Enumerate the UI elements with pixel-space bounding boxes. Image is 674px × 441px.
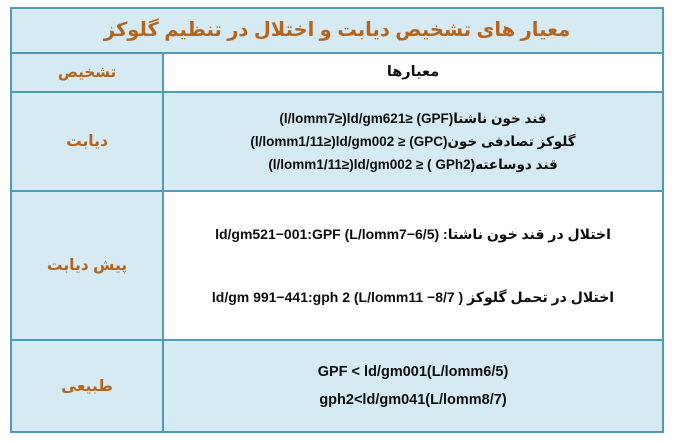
criteria-line: اختلال در قند خون ناشتا: (5/6−7mmol/L) F… (170, 223, 656, 245)
criteria-cell-normal: (5/6mmol/L)100mg/dl > FPG (7/8mmol/L)140… (163, 340, 663, 432)
table-page: معیار های تشخیص دیابت و اختلال در تنظیم … (0, 0, 674, 441)
criteria-line: قند دوساعته(2hPG ) ≤ 200mg/dl(≤11/1mmol/… (170, 153, 656, 176)
header-row: معیارها تشخیص (11, 53, 663, 92)
page-title: معیار های تشخیص دیابت و اختلال در تنظیم … (104, 19, 570, 41)
header-cell-criteria: معیارها (163, 53, 663, 92)
row-label-prediabetes: پیش دیابت (47, 257, 127, 274)
table-row: قند خون ناشتا(FPG) ≤126mg/dl(≤7mmol/l) گ… (11, 92, 663, 192)
criteria-line: (7/8mmol/L)140mg/dl>2hpg (170, 386, 656, 414)
criteria-line: اختلال در تحمل گلوکز ( 7/8− 11mmol/L) 2 … (170, 286, 656, 308)
criteria-line: قند خون ناشتا(FPG) ≤126mg/dl(≤7mmol/l) (170, 107, 656, 130)
table-row: (5/6mmol/L)100mg/dl > FPG (7/8mmol/L)140… (11, 340, 663, 432)
label-cell-prediabetes: پیش دیابت (11, 191, 163, 340)
row-spacer (170, 246, 656, 286)
criteria-cell-diabetes: قند خون ناشتا(FPG) ≤126mg/dl(≤7mmol/l) گ… (163, 92, 663, 192)
diagnosis-criteria-table: معیار های تشخیص دیابت و اختلال در تنظیم … (10, 7, 664, 433)
criteria-line: (5/6mmol/L)100mg/dl > FPG (170, 358, 656, 386)
criteria-cell-prediabetes: اختلال در قند خون ناشتا: (5/6−7mmol/L) F… (163, 191, 663, 340)
table-row: اختلال در قند خون ناشتا: (5/6−7mmol/L) F… (11, 191, 663, 340)
header-label-diagnosis: تشخیص (58, 64, 116, 81)
label-cell-diabetes: دیابت (11, 92, 163, 192)
row-label-normal: طبیعی (61, 378, 113, 395)
row-label-diabetes: دیابت (66, 133, 108, 150)
header-cell-diagnosis: تشخیص (11, 53, 163, 92)
table-title-cell: معیار های تشخیص دیابت و اختلال در تنظیم … (11, 8, 663, 53)
label-cell-normal: طبیعی (11, 340, 163, 432)
title-row: معیار های تشخیص دیابت و اختلال در تنظیم … (11, 8, 663, 53)
header-label-criteria: معیارها (387, 64, 439, 80)
criteria-line: گلوکز تصادفی خون(CPG) ≤ 200mg/dl(≤11/1mm… (170, 130, 656, 153)
